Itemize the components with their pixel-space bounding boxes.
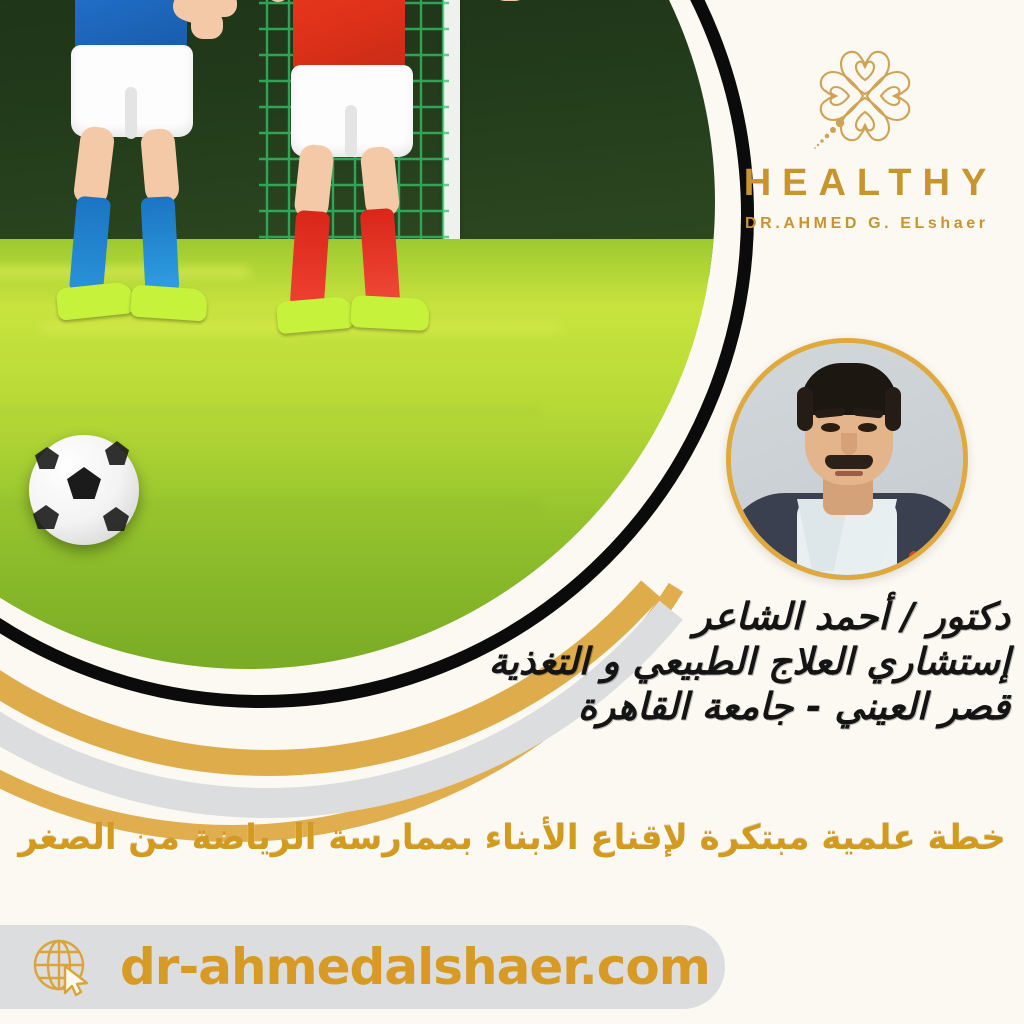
doctor-name-block: دكتور / أحمد الشاعر إستشاري العلاج الطبي… <box>10 594 1010 729</box>
website-footer-bar[interactable]: dr-ahmedalshaer.com <box>0 925 725 1009</box>
cursor-arrow <box>65 966 87 995</box>
globe-cursor-icon <box>30 935 94 999</box>
brand-logo-block: HEALTHY DR.AHMED G. ELshaer <box>730 36 1000 233</box>
headline-text: خطة علمية مبتكرة لإقناع الأبناء بممارسة … <box>0 818 1024 858</box>
four-heart-clover-icon <box>801 36 929 156</box>
lapel-pin <box>909 551 919 561</box>
doctor-name: دكتور / أحمد الشاعر <box>10 594 1010 639</box>
mouth <box>835 471 863 476</box>
doctor-portrait <box>726 338 968 580</box>
brand-subtitle: DR.AHMED G. ELshaer <box>730 215 1000 233</box>
nose <box>841 433 857 455</box>
brand-name: HEALTHY <box>730 162 1000 205</box>
eye-left <box>821 423 840 432</box>
doctor-specialty: إستشاري العلاج الطبيعي و التغذية <box>10 639 1010 684</box>
website-url[interactable]: dr-ahmedalshaer.com <box>120 938 710 996</box>
doctor-affiliation: قصر العيني - جامعة القاهرة <box>10 684 1010 729</box>
sideburn-left <box>797 387 813 431</box>
eye-right <box>858 423 877 432</box>
moustache <box>825 455 873 469</box>
poster-canvas: HEALTHY DR.AHMED G. ELshaer <box>0 0 1024 1024</box>
sideburn-right <box>885 387 901 431</box>
